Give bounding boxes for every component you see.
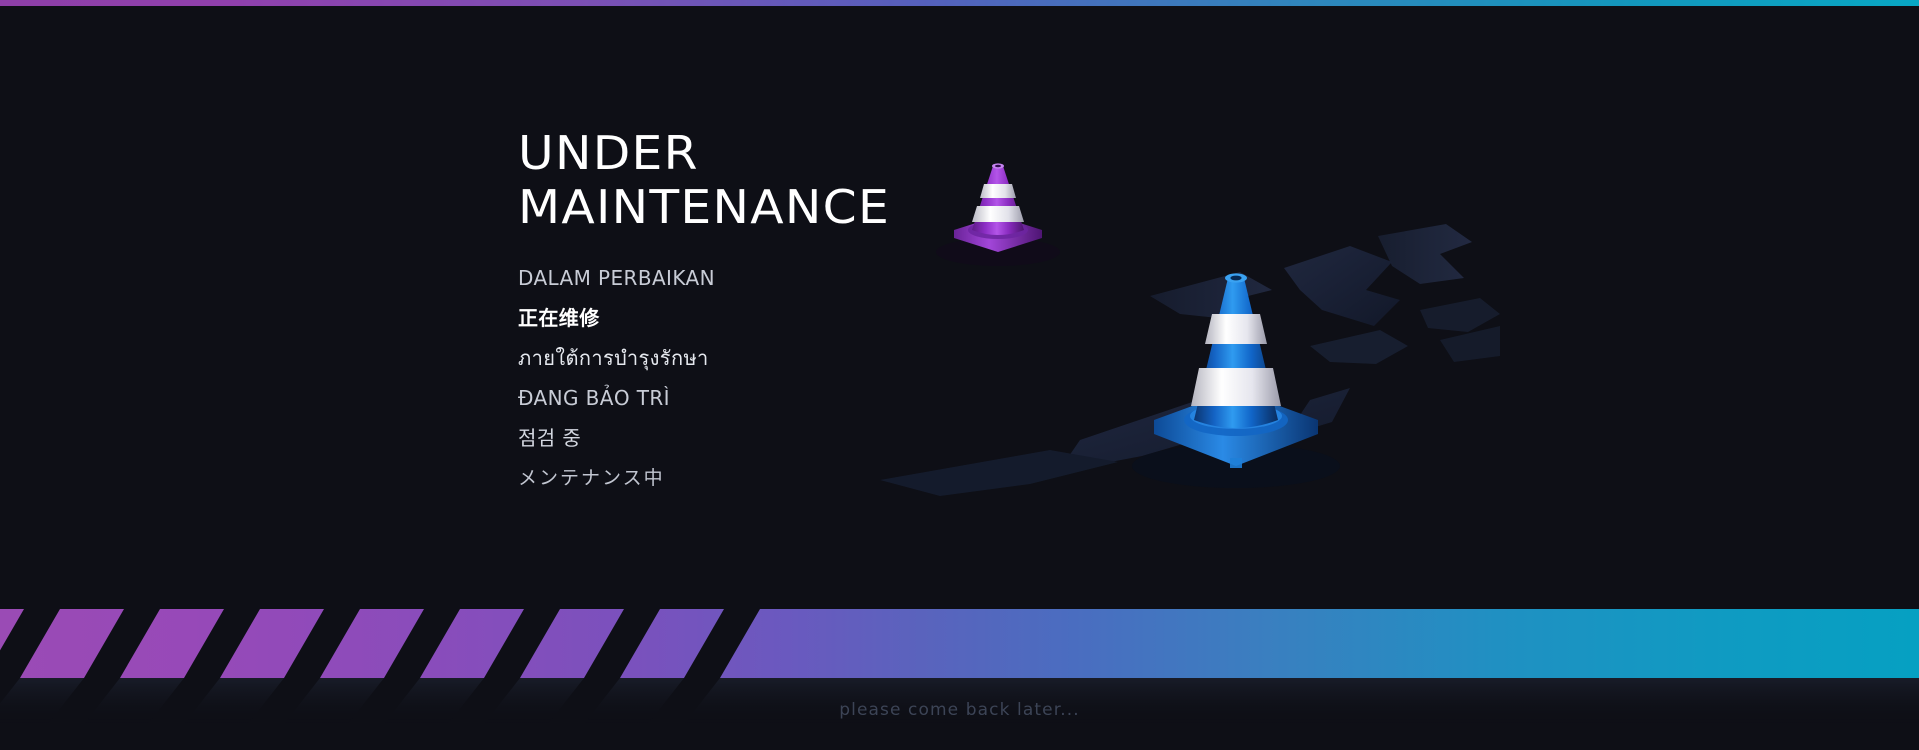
footer-note: please come back later... [0,700,1919,720]
top-accent-bar [0,0,1919,6]
traffic-cone-blue [1132,273,1340,488]
maintenance-illustration [880,150,1500,530]
maintenance-page: UNDER MAINTENANCE DALAM PERBAIKAN 正在维修 ภ… [0,0,1919,750]
hazard-stripe-band [0,609,1919,678]
traffic-cone-purple [936,163,1060,266]
